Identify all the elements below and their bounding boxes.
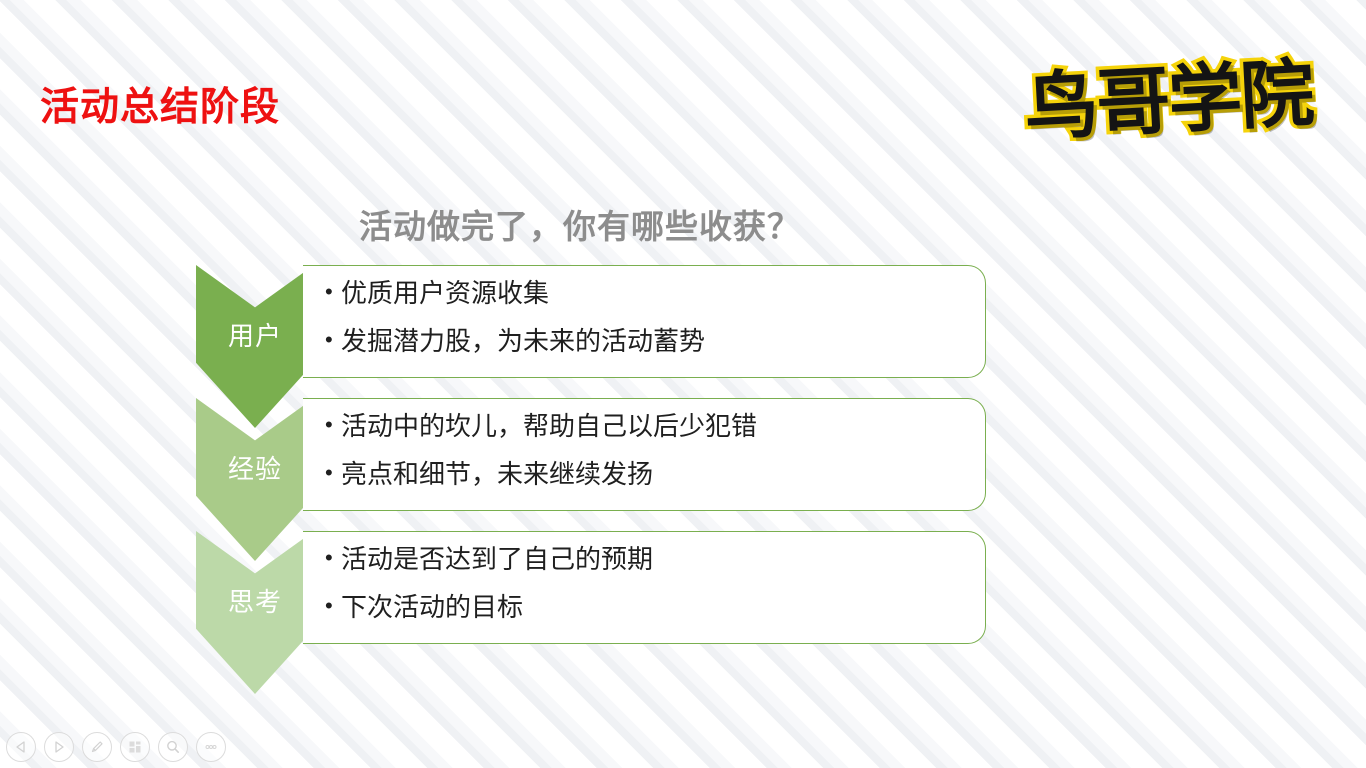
- slide-toolbar: [6, 732, 226, 762]
- list-item-text: 发掘潜力股，为未来的活动蓄势: [341, 327, 705, 355]
- content-card: • 优质用户资源收集 • 发掘潜力股，为未来的活动蓄势: [303, 265, 986, 378]
- summary-row: 思考 • 活动是否达到了自己的预期 • 下次活动的目标: [196, 531, 986, 649]
- list-item: • 优质用户资源收集: [325, 279, 985, 307]
- chevron-label: 经验: [228, 449, 282, 486]
- chevron-label: 思考: [228, 582, 282, 619]
- grid-layout-icon: [127, 739, 143, 755]
- bullet-marker-icon: •: [325, 593, 341, 619]
- slide-overview-button[interactable]: [120, 732, 150, 762]
- bullet-marker-icon: •: [325, 327, 341, 353]
- bullet-marker-icon: •: [325, 460, 341, 486]
- triangle-right-icon: [52, 740, 66, 754]
- brand-logo-text: 鸟哥学院: [1015, 34, 1320, 154]
- triangle-left-icon: [14, 740, 28, 754]
- list-item-text: 优质用户资源收集: [341, 279, 549, 307]
- pen-annotate-button[interactable]: [82, 732, 112, 762]
- presentation-slide: 活动总结阶段 鸟哥学院 活动做完了，你有哪些收获？ 用户 • 优质用户资源收集 …: [0, 0, 1366, 768]
- chevron-label: 用户: [228, 316, 282, 353]
- list-item: • 活动是否达到了自己的预期: [325, 545, 985, 573]
- previous-slide-button[interactable]: [6, 732, 36, 762]
- page-title: 活动总结阶段: [40, 88, 280, 127]
- list-item: • 亮点和细节，未来继续发扬: [325, 460, 985, 488]
- list-item: • 发掘潜力股，为未来的活动蓄势: [325, 327, 985, 355]
- content-card: • 活动是否达到了自己的预期 • 下次活动的目标: [303, 531, 986, 644]
- list-item: • 活动中的坎儿，帮助自己以后少犯错: [325, 412, 985, 440]
- list-item-text: 下次活动的目标: [341, 593, 523, 621]
- zoom-button[interactable]: [158, 732, 188, 762]
- summary-row: 用户 • 优质用户资源收集 • 发掘潜力股，为未来的活动蓄势: [196, 265, 986, 383]
- list-item-text: 亮点和细节，未来继续发扬: [341, 460, 653, 488]
- next-slide-button[interactable]: [44, 732, 74, 762]
- magnifier-icon: [165, 739, 181, 755]
- bullet-marker-icon: •: [325, 545, 341, 571]
- slide-subtitle: 活动做完了，你有哪些收获？: [0, 200, 1160, 248]
- ellipsis-icon: [203, 739, 219, 755]
- pen-icon: [89, 739, 105, 755]
- content-card: • 活动中的坎儿，帮助自己以后少犯错 • 亮点和细节，未来继续发扬: [303, 398, 986, 511]
- brand-logo: 鸟哥学院: [1018, 42, 1318, 146]
- bullet-marker-icon: •: [325, 279, 341, 305]
- list-item: • 下次活动的目标: [325, 593, 985, 621]
- more-options-button[interactable]: [196, 732, 226, 762]
- list-item-text: 活动中的坎儿，帮助自己以后少犯错: [341, 412, 757, 440]
- list-item-text: 活动是否达到了自己的预期: [341, 545, 653, 573]
- bullet-marker-icon: •: [325, 412, 341, 438]
- summary-row: 经验 • 活动中的坎儿，帮助自己以后少犯错 • 亮点和细节，未来继续发扬: [196, 398, 986, 516]
